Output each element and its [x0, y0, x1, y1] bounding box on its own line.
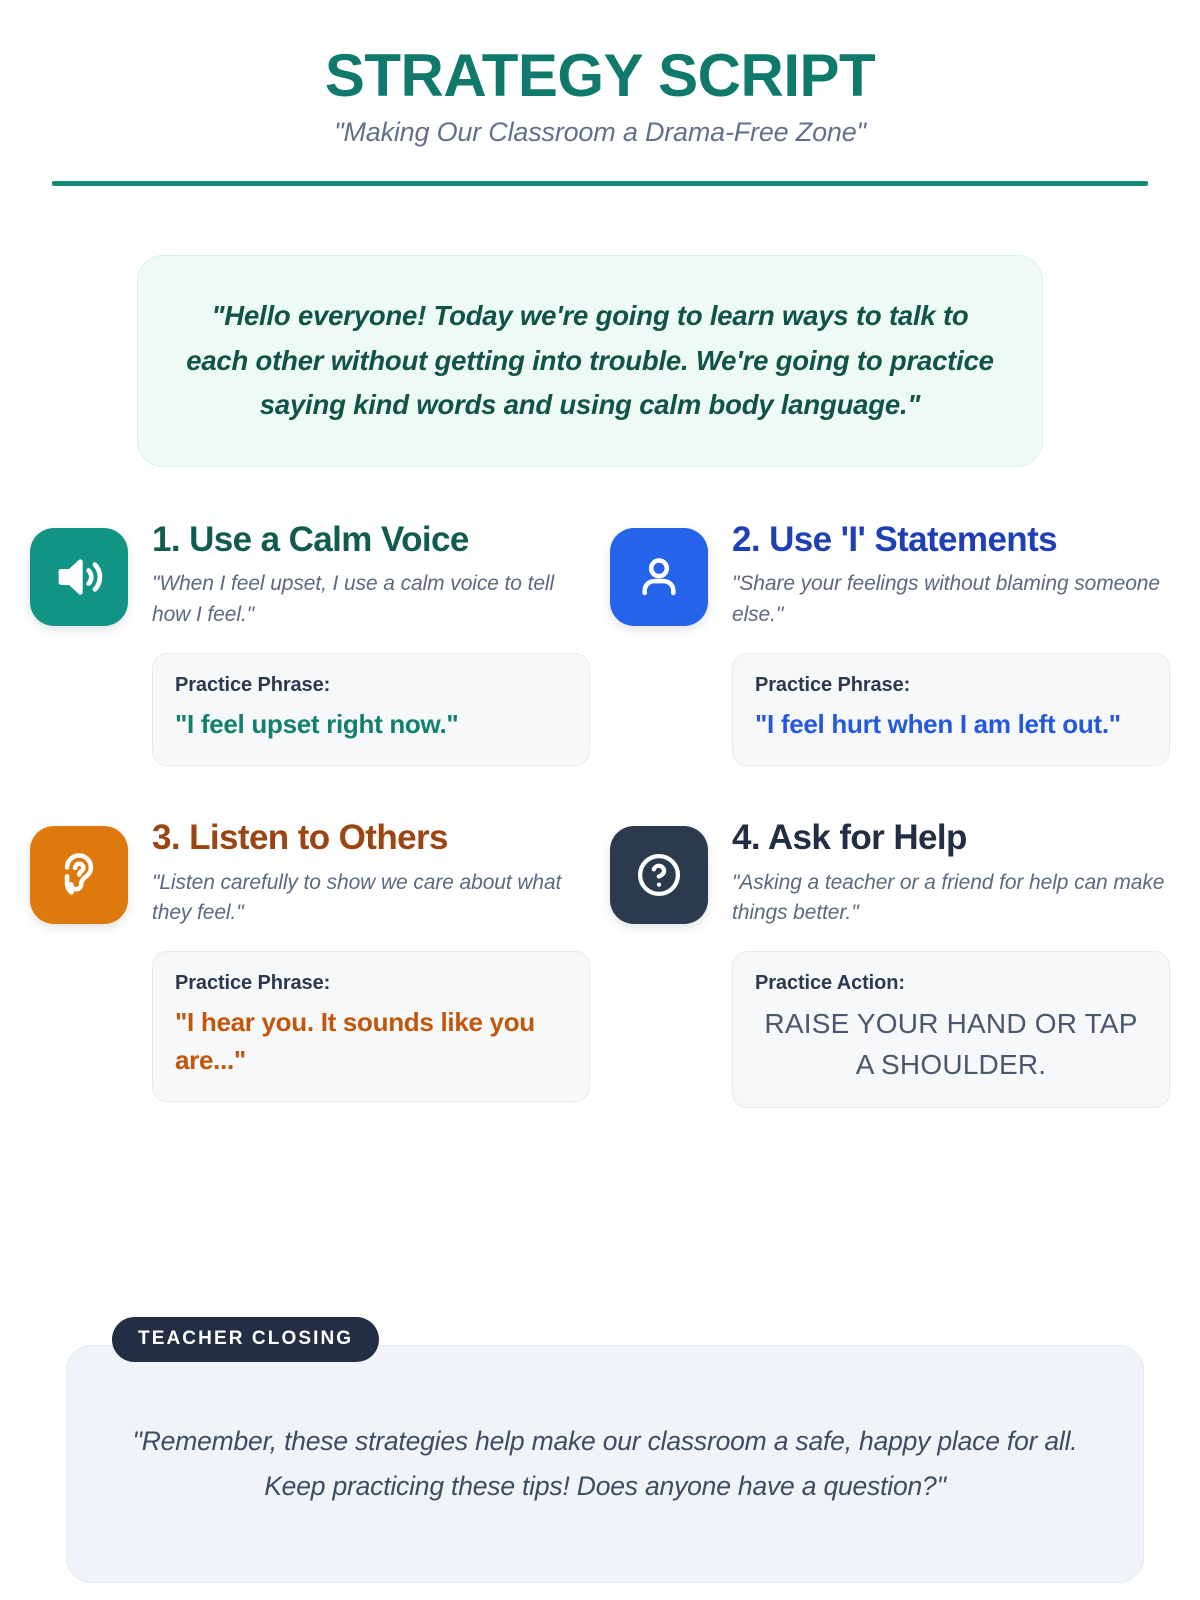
strategy-title-3: 3. Listen to Others: [152, 818, 590, 857]
teacher-closing-text: "Remember, these strategies help make ou…: [127, 1419, 1083, 1508]
header-divider: [52, 181, 1148, 186]
strategy-title-4: 4. Ask for Help: [732, 818, 1170, 857]
practice-phrase-1: "I feel upset right now.": [175, 706, 567, 743]
speaker-volume-icon: [52, 550, 106, 604]
person-icon: [633, 551, 685, 603]
strategy-icon-tile-4: [610, 826, 708, 924]
strategy-icon-tile-3: [30, 826, 128, 924]
page-subtitle: "Making Our Classroom a Drama-Free Zone": [0, 117, 1200, 148]
strategy-card-4: 4. Ask for Help "Asking a teacher or a f…: [610, 818, 1170, 1108]
page-header: STRATEGY SCRIPT "Making Our Classroom a …: [0, 0, 1200, 186]
strategy-card-body-1: 1. Use a Calm Voice "When I feel upset, …: [152, 520, 590, 766]
strategy-card-2: 2. Use 'I' Statements "Share your feelin…: [610, 520, 1170, 766]
strategy-icon-tile-2: [610, 528, 708, 626]
strategy-script-page: STRATEGY SCRIPT "Making Our Classroom a …: [0, 0, 1200, 1600]
strategy-description-3: "Listen carefully to show we care about …: [152, 868, 590, 930]
strategy-description-1: "When I feel upset, I use a calm voice t…: [152, 569, 590, 631]
question-circle-icon: [632, 848, 686, 902]
practice-phrase-2: "I feel hurt when I am left out.": [755, 706, 1147, 743]
intro-quote-text: "Hello everyone! Today we're going to le…: [186, 294, 994, 428]
strategy-card-body-2: 2. Use 'I' Statements "Share your feelin…: [732, 520, 1170, 766]
ear-icon: [53, 849, 105, 901]
practice-label-3: Practice Phrase:: [175, 972, 567, 995]
page-title: STRATEGY SCRIPT: [0, 44, 1200, 109]
practice-label-4: Practice Action:: [755, 972, 1147, 995]
practice-box-1: Practice Phrase: "I feel upset right now…: [152, 653, 590, 766]
practice-label-1: Practice Phrase:: [175, 674, 567, 697]
strategy-card-1: 1. Use a Calm Voice "When I feel upset, …: [30, 520, 590, 766]
practice-action-4: RAISE YOUR HAND OR TAP A SHOULDER.: [755, 1004, 1147, 1085]
teacher-closing-badge: TEACHER CLOSING: [112, 1317, 379, 1362]
practice-box-2: Practice Phrase: "I feel hurt when I am …: [732, 653, 1170, 766]
strategy-description-2: "Share your feelings without blaming som…: [732, 569, 1170, 631]
strategy-description-4: "Asking a teacher or a friend for help c…: [732, 868, 1170, 930]
practice-phrase-3: "I hear you. It sounds like you are...": [175, 1004, 567, 1079]
practice-box-3: Practice Phrase: "I hear you. It sounds …: [152, 951, 590, 1102]
strategy-card-body-3: 3. Listen to Others "Listen carefully to…: [152, 818, 590, 1102]
practice-label-2: Practice Phrase:: [755, 674, 1147, 697]
strategy-card-body-4: 4. Ask for Help "Asking a teacher or a f…: [732, 818, 1170, 1108]
teacher-closing-box: "Remember, these strategies help make ou…: [66, 1345, 1144, 1583]
strategy-icon-tile-1: [30, 528, 128, 626]
intro-quote-box: "Hello everyone! Today we're going to le…: [137, 255, 1043, 467]
strategy-card-3: 3. Listen to Others "Listen carefully to…: [30, 818, 590, 1108]
strategy-title-1: 1. Use a Calm Voice: [152, 520, 590, 559]
practice-box-4: Practice Action: RAISE YOUR HAND OR TAP …: [732, 951, 1170, 1108]
strategy-title-2: 2. Use 'I' Statements: [732, 520, 1170, 559]
strategy-card-grid: 1. Use a Calm Voice "When I feel upset, …: [0, 520, 1200, 1108]
